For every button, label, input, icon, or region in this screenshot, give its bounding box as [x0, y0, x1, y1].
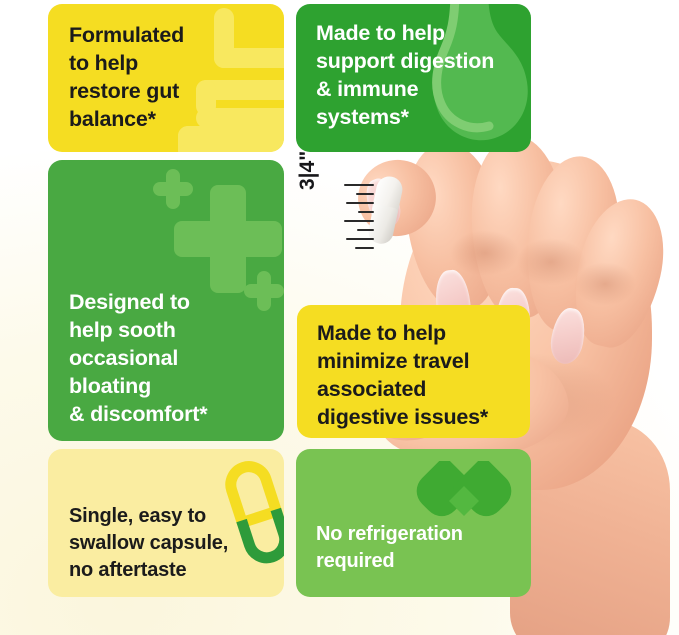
card-gut-balance-text: Formulated to help restore gut balance* — [69, 21, 184, 133]
card-bloating-text: Designed to help sooth occasional bloati… — [69, 288, 207, 428]
knuckle-shadow-1 — [450, 230, 520, 276]
card-gut-balance[interactable]: Formulated to help restore gut balance* — [48, 4, 284, 152]
ruler-tick — [346, 238, 374, 240]
card-single-capsule[interactable]: Single, easy to swallow capsule, no afte… — [48, 449, 284, 597]
card-no-refrigeration-text: No refrigeration required — [316, 521, 463, 575]
card-digestion-immune-text: Made to help support digestion & immune … — [316, 19, 494, 131]
card-single-capsule-text: Single, easy to swallow capsule, no afte… — [69, 503, 228, 584]
ruler-tick — [358, 211, 374, 213]
card-travel[interactable]: Made to help minimize travel associated … — [297, 305, 530, 438]
knuckle-shadow-3 — [574, 262, 636, 306]
infographic-canvas: 3|4" Formulated to help restore gut bala… — [0, 0, 679, 635]
card-no-refrigeration[interactable]: No refrigeration required — [296, 449, 531, 597]
ruler-tick — [344, 184, 374, 186]
ruler-tick — [356, 193, 374, 195]
ruler-tick — [357, 229, 374, 231]
ruler-tick — [346, 202, 374, 204]
medical-cross-icon — [244, 271, 284, 311]
ruler-tick — [355, 247, 374, 249]
card-digestion-immune[interactable]: Made to help support digestion & immune … — [296, 4, 531, 152]
card-travel-text: Made to help minimize travel associated … — [317, 319, 488, 431]
measurement-label: 3|4" — [296, 151, 320, 190]
card-bloating[interactable]: Designed to help sooth occasional bloati… — [48, 160, 284, 441]
ruler-tick — [344, 220, 374, 222]
size-annotation: 3|4" — [300, 182, 374, 258]
